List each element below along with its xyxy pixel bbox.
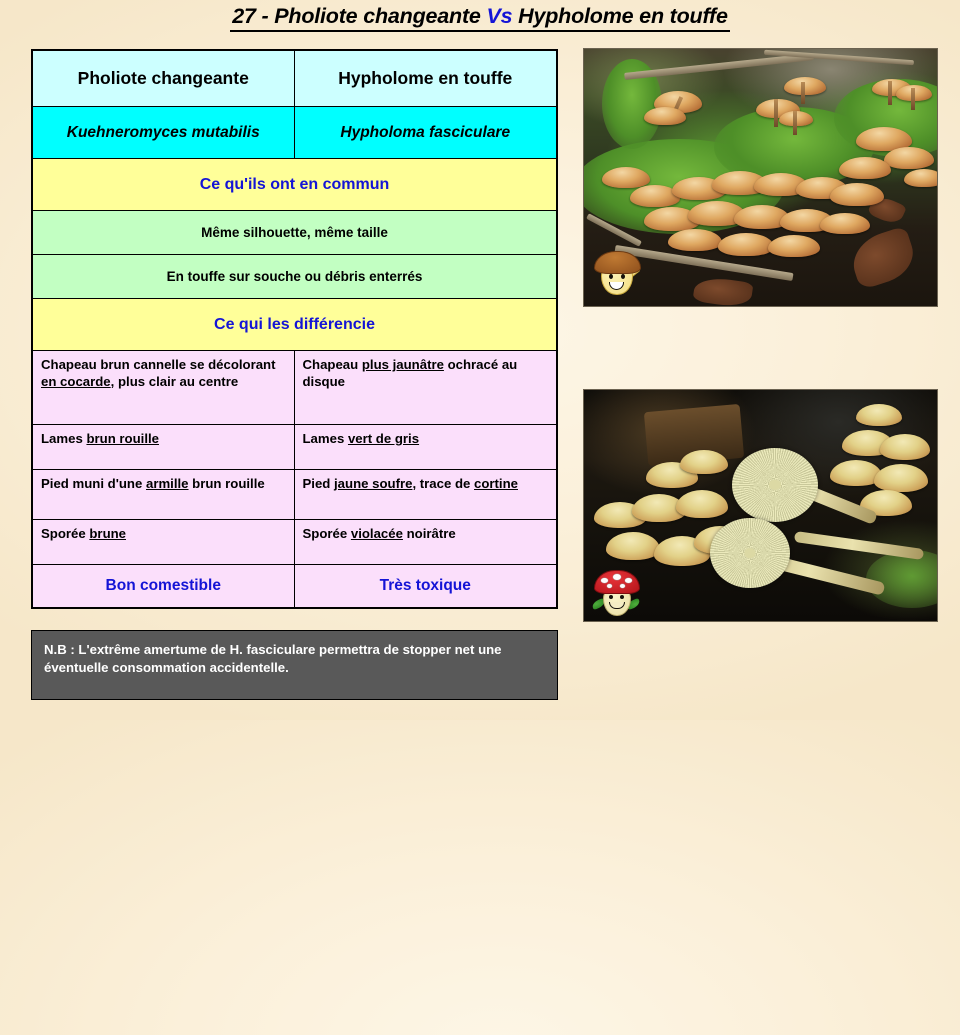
mushroom-cap — [896, 85, 932, 101]
cap-spot — [601, 578, 608, 583]
cell-gills-right: Lames vert de gris — [295, 425, 557, 469]
mushroom-cap — [779, 111, 813, 126]
mushroom-cap — [830, 183, 884, 206]
photo-kuehneromyces-mutabilis — [583, 48, 938, 307]
page-title: 27 - Pholiote changeante Vs Hypholome en… — [230, 4, 730, 32]
verdict-edible: Bon comestible — [33, 565, 295, 607]
mushroom-cap — [904, 169, 938, 187]
mushroom-gills — [710, 518, 790, 588]
cap-left-key: en cocarde — [41, 374, 111, 389]
cell-gills-left: Lames brun rouille — [33, 425, 295, 469]
mushroom-cap — [606, 532, 660, 560]
spores-right-pre: Sporée — [303, 526, 351, 541]
table-row-shared-trait-2: En touffe sur souche ou débris enterrés — [33, 255, 556, 299]
table-row-verdict: Bon comestible Très toxique — [33, 565, 556, 607]
slide-title-area: 27 - Pholiote changeante Vs Hypholome en… — [0, 4, 960, 32]
mushroom-cap — [668, 229, 722, 251]
cell-common-name-left: Pholiote changeante — [33, 51, 295, 106]
mushroom-cap — [644, 107, 686, 125]
stem-right-key2: cortine — [474, 476, 518, 491]
mushroom-cap — [768, 235, 820, 257]
mascot-eye — [620, 595, 624, 599]
mascot-eye — [609, 274, 613, 279]
mushroom-cap — [856, 404, 902, 426]
cell-scientific-name-left: Kuehneromyces mutabilis — [33, 107, 295, 158]
section-header-differences: Ce qui les différencie — [33, 299, 556, 350]
mushroom-cap — [874, 464, 928, 492]
shared-trait-habitat: En touffe sur souche ou débris enterrés — [33, 255, 556, 298]
stem-left-key: armille — [146, 476, 189, 491]
table-row-difference-cap: Chapeau brun cannelle se décolorant en c… — [33, 351, 556, 425]
table-row-shared-trait-1: Même silhouette, même taille — [33, 211, 556, 255]
cell-stem-right: Pied jaune soufre, trace de cortine — [295, 470, 557, 519]
cell-spores-right: Sporée violacée noirâtre — [295, 520, 557, 564]
photo-block-kuehneromyces: Kuehneromyces mutabilis — [583, 48, 938, 307]
shared-trait-silhouette: Même silhouette, même taille — [33, 211, 556, 254]
cell-stem-left: Pied muni d'une armille brun rouille — [33, 470, 295, 519]
mushroom-gills — [732, 448, 818, 522]
cell-cap-right: Chapeau plus jaunâtre ochracé au disque — [295, 351, 557, 424]
table-row-difference-gills: Lames brun rouille Lames vert de gris — [33, 425, 556, 470]
gills-left-key: brun rouille — [86, 431, 159, 446]
mushroom-cap — [880, 434, 930, 460]
note-box: N.B : L'extrême amertume de H. fascicula… — [31, 630, 558, 700]
stem-left-post: brun rouille — [189, 476, 265, 491]
toxic-amanita-mascot-icon — [594, 568, 640, 618]
mushroom-cap — [820, 213, 870, 234]
cap-spot — [607, 584, 612, 588]
mushroom-cap — [676, 490, 728, 518]
cap-left-pre: Chapeau brun cannelle se décolorant — [41, 357, 276, 372]
table-row-section-differences: Ce qui les différencie — [33, 299, 556, 351]
cap-right-key: plus jaunâtre — [362, 357, 444, 372]
stem-right-pre: Pied — [303, 476, 335, 491]
cell-cap-left: Chapeau brun cannelle se décolorant en c… — [33, 351, 295, 424]
spores-left-pre: Sporée — [41, 526, 89, 541]
cell-spores-left: Sporée brune — [33, 520, 295, 564]
mushroom-cap — [680, 450, 728, 474]
cap-right-pre: Chapeau — [303, 357, 362, 372]
cap-spot — [613, 574, 621, 580]
gills-left-pre: Lames — [41, 431, 86, 446]
mushroom-cap — [718, 233, 774, 256]
stem-left-pre: Pied muni d'une — [41, 476, 146, 491]
table-row-scientific-names: Kuehneromyces mutabilis Hypholoma fascic… — [33, 107, 556, 159]
cap-spot — [620, 584, 625, 588]
stem-right-key: jaune soufre — [334, 476, 412, 491]
table-row-common-names: Pholiote changeante Hypholome en touffe — [33, 51, 556, 107]
table-row-section-common: Ce qu'ils ont en commun — [33, 159, 556, 211]
mushroom-cap — [839, 157, 891, 179]
section-header-common: Ce qu'ils ont en commun — [33, 159, 556, 210]
photo-hypholoma-fasciculare — [583, 389, 938, 622]
friendly-cep-mascot-icon — [594, 245, 642, 297]
cell-common-name-right: Hypholome en touffe — [295, 51, 557, 106]
mascot-eye — [621, 274, 625, 279]
verdict-toxic: Très toxique — [295, 565, 557, 607]
spores-right-post: noirâtre — [403, 526, 456, 541]
mushroom-cap — [784, 77, 826, 95]
title-suffix: Hypholome en touffe — [512, 4, 727, 28]
photo-block-hypholoma: Hypholoma fasciculare — [583, 389, 938, 622]
title-vs: Vs — [486, 4, 512, 28]
mascot-cap-icon — [594, 251, 641, 274]
gills-right-pre: Lames — [303, 431, 348, 446]
comparison-table: Pholiote changeante Hypholome en touffe … — [31, 49, 558, 609]
cap-spot — [625, 578, 632, 583]
gills-right-key: vert de gris — [348, 431, 419, 446]
table-row-difference-spores: Sporée brune Sporée violacée noirâtre — [33, 520, 556, 565]
cell-scientific-name-right: Hypholoma fasciculare — [295, 107, 557, 158]
spores-left-key: brune — [89, 526, 126, 541]
title-prefix: 27 - Pholiote changeante — [232, 4, 486, 28]
mascot-eye — [609, 595, 613, 599]
spores-right-key: violacée — [351, 526, 403, 541]
mushroom-cap — [884, 147, 934, 169]
stem-right-post: , trace de — [412, 476, 474, 491]
cap-left-post: , plus clair au centre — [111, 374, 239, 389]
table-row-difference-stem: Pied muni d'une armille brun rouille Pie… — [33, 470, 556, 520]
